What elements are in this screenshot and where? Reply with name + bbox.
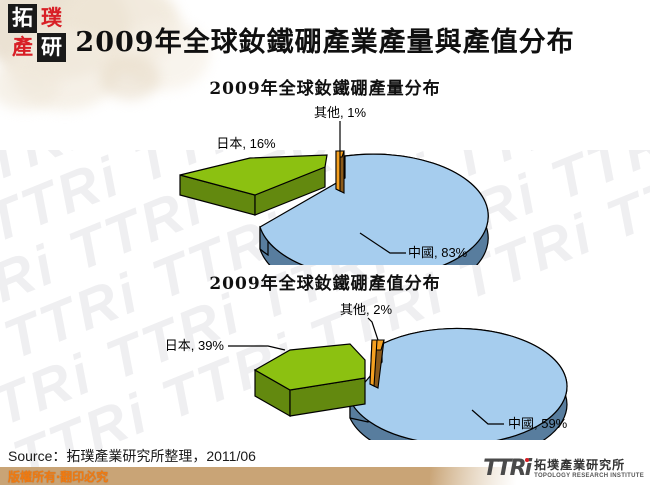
other-data-label: 其他, 2%: [340, 302, 392, 317]
tri-brand-logo: TTRi 拓墣產業研究所 TOPOLOGY RESEARCH INSTITUTE: [483, 456, 644, 482]
japan-leader-line: [228, 346, 285, 350]
logo-cell-2: 璞: [37, 4, 66, 33]
chart-2-title: 2009年全球釹鐵硼產值分布: [0, 269, 650, 294]
logo-cell-3: 產: [8, 33, 37, 62]
copyright-text: 版權所有‧翻印必究: [8, 468, 108, 485]
pie-chart-production-volume: 其他, 1% 日本, 16% 中國, 83%: [150, 105, 650, 265]
source-note: Source：拓璞產業研究所整理，2011/06: [8, 446, 256, 466]
china-data-label: 中國, 59%: [508, 416, 568, 431]
chart-1-title: 2009年全球釹鐵硼產量分布: [0, 74, 650, 99]
japan-data-label: 日本, 16%: [216, 136, 276, 151]
japan-data-label: 日本, 39%: [165, 338, 225, 353]
tri-wordmark: TTRi: [483, 458, 530, 480]
pie-chart-1-svg: 其他, 1% 日本, 16% 中國, 83%: [150, 105, 650, 265]
slide-canvas: TTRi TTRi TTRi TTRi TTRi TTRi TTRi TTRi …: [0, 0, 650, 485]
logo-cell-4: 研: [37, 33, 66, 62]
china-data-label: 中國, 83%: [408, 245, 468, 260]
other-leader-line: [368, 318, 378, 340]
page-title: 2009年全球釹鐵硼產業產量與產值分布: [0, 20, 650, 59]
pie-chart-production-value: 其他, 2% 日本, 39% 中國, 59%: [120, 300, 640, 440]
other-slice-front: [336, 151, 340, 191]
tri-name-cn: 拓墣產業研究所: [534, 459, 644, 471]
tri-brand-names: 拓墣產業研究所 TOPOLOGY RESEARCH INSTITUTE: [534, 459, 644, 479]
tri-name-en: TOPOLOGY RESEARCH INSTITUTE: [534, 473, 644, 479]
logo-cell-1: 拓: [8, 4, 37, 33]
tri-red-dot: [525, 458, 529, 462]
pie-chart-2-svg: 其他, 2% 日本, 39% 中國, 59%: [120, 300, 640, 440]
other-data-label: 其他, 1%: [314, 105, 366, 120]
tri-corner-logo: 拓 璞 產 研: [8, 4, 66, 62]
